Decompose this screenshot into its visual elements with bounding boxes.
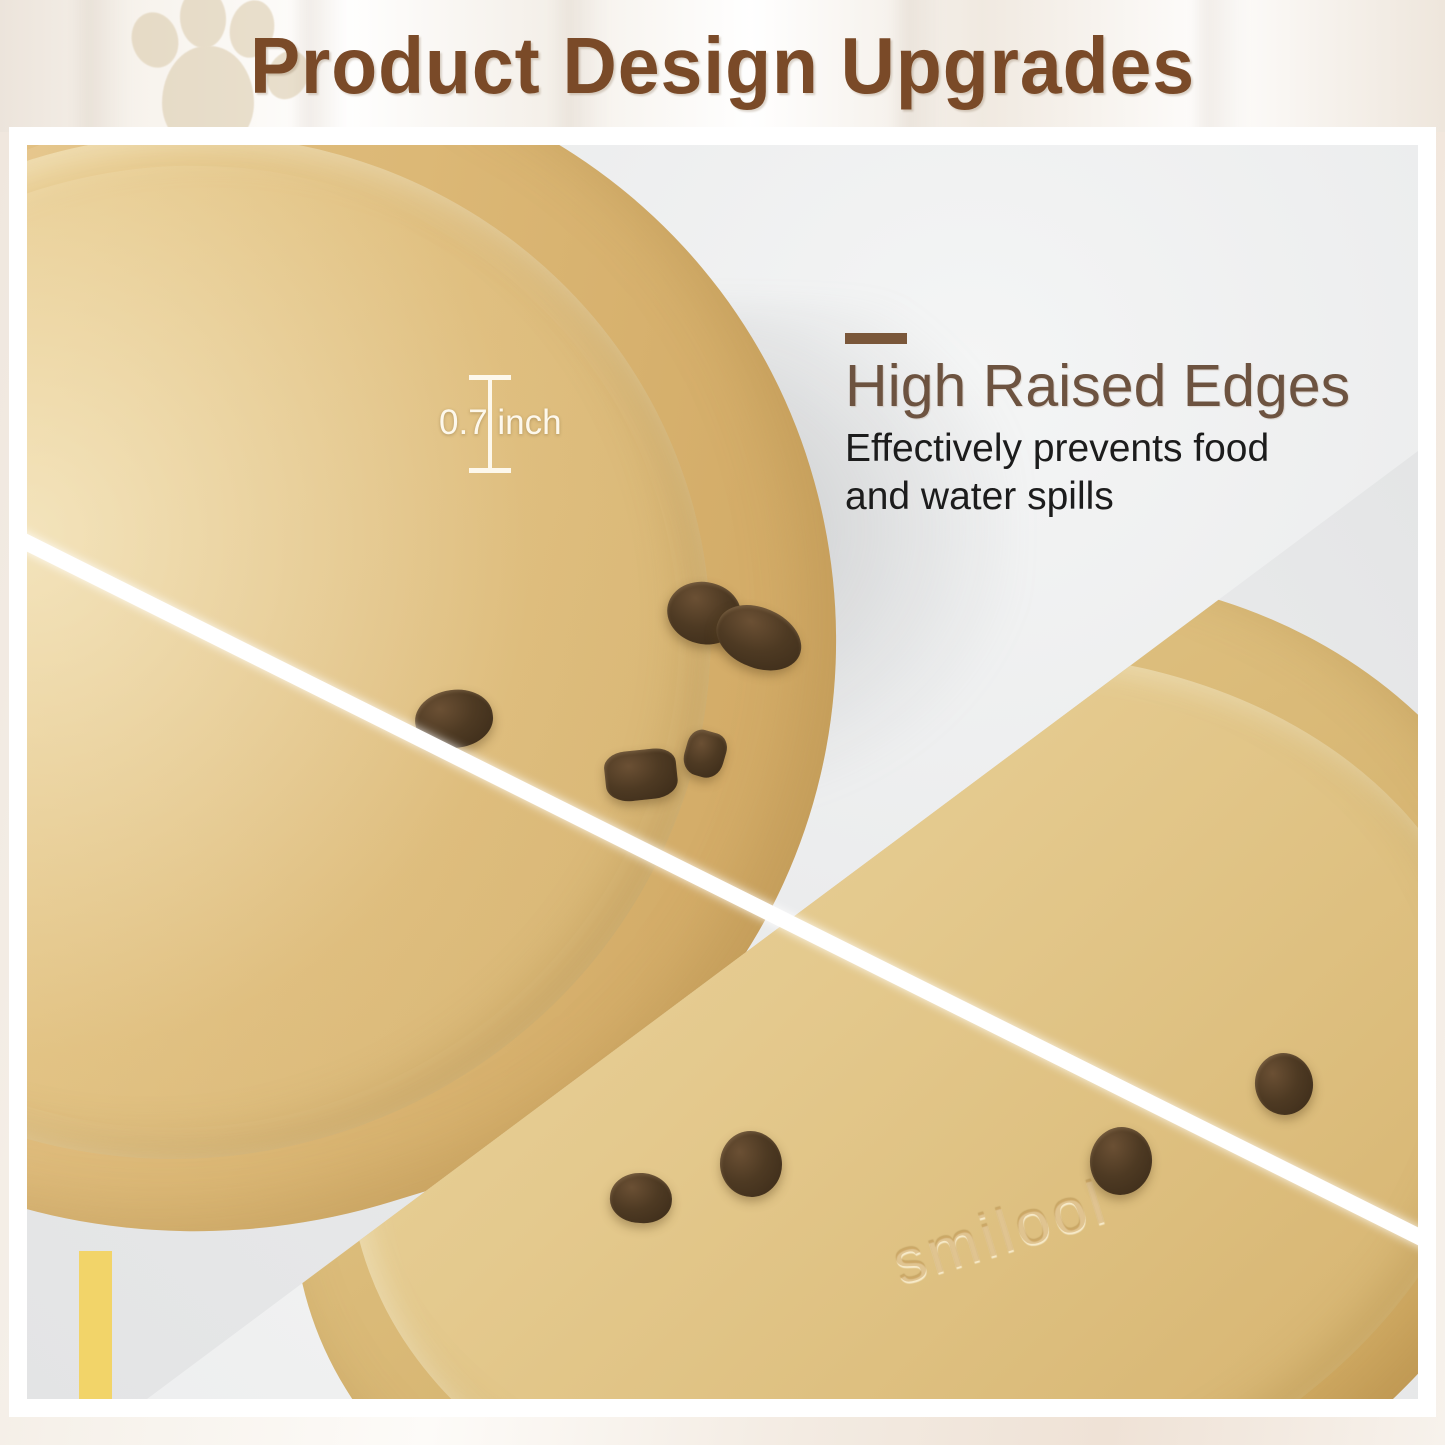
feature-title: High Raised Edges: [845, 356, 1350, 416]
feature-subtitle: Effectively prevents food and water spil…: [845, 425, 1350, 520]
feature-high-raised-edges: High Raised Edges Effectively prevents f…: [845, 333, 1350, 520]
feature-dash-icon: [845, 333, 907, 344]
header-band: Product Design Upgrades: [0, 0, 1445, 132]
feature-subtitle-line-2: and water spills: [845, 473, 1350, 521]
dimension-label: 0.7 inch: [439, 403, 562, 443]
dimension-cap-bottom: [469, 468, 511, 473]
page-title: Product Design Upgrades: [43, 0, 1401, 132]
feature-subtitle-line-1: Effectively prevents food: [845, 425, 1350, 473]
dimension-cap-top: [469, 375, 511, 380]
product-photo-panel: smilool 0.7 inch High Raised Edges Effec…: [27, 145, 1418, 1399]
accent-bar: [79, 1251, 112, 1399]
dimension-annotation: 0.7 inch: [447, 367, 577, 477]
product-infographic-page: Product Design Upgrades smilool: [0, 0, 1445, 1445]
